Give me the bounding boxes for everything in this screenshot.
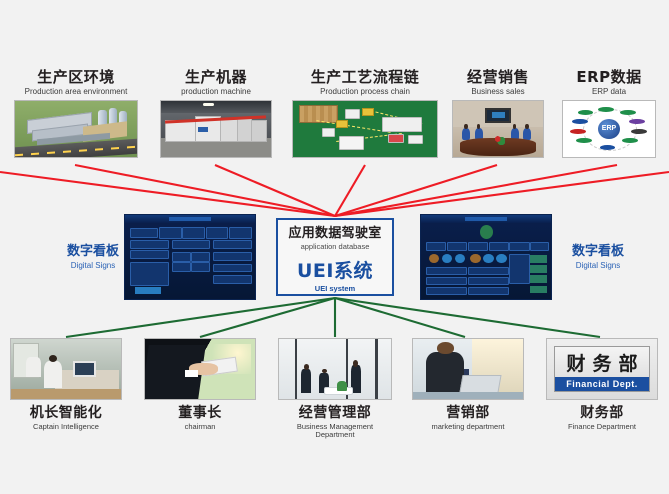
center-system-en: UEI system: [315, 284, 355, 293]
source-node-production-machine[interactable]: 生产机器 production machine: [160, 70, 272, 158]
right-digital-signs-label: 数字看板 Digital Signs: [560, 240, 636, 270]
office-meeting-photo[interactable]: [278, 338, 392, 400]
right-dashboard-thumb[interactable]: [420, 214, 552, 300]
erp-hub-diagram[interactable]: ERP: [562, 100, 656, 158]
uei-system-box[interactable]: 应用数据驾驶室 application database UEI系统 UEI s…: [276, 218, 394, 296]
printing-machine-art: [161, 101, 271, 157]
center-system-zh: UEI系统: [297, 256, 373, 283]
left-dashboard-art: [125, 215, 255, 299]
consumer-caption: 财务部 Finance Department: [546, 406, 658, 431]
printing-machine-photo[interactable]: [160, 100, 272, 158]
left-dashboard-screen[interactable]: [124, 214, 256, 300]
consumer-node-business-management[interactable]: 经营管理部 Business Management Department: [278, 338, 392, 438]
source-node-business-sales[interactable]: 经营销售 Business sales: [452, 70, 544, 158]
marketing-laptop-photo[interactable]: [412, 338, 524, 400]
consumer-caption: 营销部 marketing department: [412, 406, 524, 431]
process-chain-diagram[interactable]: [292, 100, 438, 158]
consumer-caption: 经营管理部 Business Management Department: [278, 406, 392, 438]
chairman-tablet-photo[interactable]: [144, 338, 256, 400]
source-node-erp-data[interactable]: ERP数据 ERP data ERP: [562, 70, 656, 158]
erp-hub-art: ERP: [563, 101, 655, 157]
process-chain-art: [293, 101, 437, 157]
chairman-tablet-art: [145, 339, 255, 399]
factory-aerial-photo[interactable]: [14, 100, 138, 158]
consumer-caption: 机长智能化 Captain Intelligence: [10, 406, 122, 431]
center-title-zh: 应用数据驾驶室: [288, 222, 381, 241]
meeting-room-art: [453, 101, 543, 157]
source-node-process-chain[interactable]: 生产工艺流程链 Production process chain: [292, 70, 438, 158]
control-room-photo[interactable]: [10, 338, 122, 400]
consumer-node-finance[interactable]: 财务部 Financial Dept. 财务部 Finance Departme…: [546, 338, 658, 431]
diagram-canvas: 生产区环境 Production area environment 生产机器 p…: [0, 0, 669, 494]
source-caption: 生产区环境 Production area environment: [14, 70, 138, 96]
right-dashboard-art: [421, 215, 551, 299]
source-node-production-area[interactable]: 生产区环境 Production area environment: [14, 70, 138, 158]
office-meeting-art: [279, 339, 391, 399]
red-source-links: [0, 165, 669, 216]
green-consumer-links: [66, 298, 600, 337]
center-title-en: application database: [301, 242, 370, 251]
consumer-node-captain-intelligence[interactable]: 机长智能化 Captain Intelligence: [10, 338, 122, 431]
finance-door-sign[interactable]: 财务部 Financial Dept.: [546, 338, 658, 400]
source-caption: 生产工艺流程链 Production process chain: [292, 70, 438, 96]
factory-aerial-art: [15, 101, 137, 157]
left-dashboard-thumb[interactable]: [124, 214, 256, 300]
source-caption: 经营销售 Business sales: [452, 70, 544, 96]
consumer-node-marketing[interactable]: 营销部 marketing department: [412, 338, 524, 431]
consumer-caption: 董事长 chairman: [144, 406, 256, 431]
finance-sign-plate: 财务部 Financial Dept.: [554, 346, 651, 391]
source-caption: 生产机器 production machine: [160, 70, 272, 96]
right-dashboard-screen[interactable]: [420, 214, 552, 300]
meeting-room-photo[interactable]: [452, 100, 544, 158]
finance-sign-en: Financial Dept.: [555, 377, 650, 391]
control-room-art: [11, 339, 121, 399]
source-caption: ERP数据 ERP data: [562, 70, 656, 96]
left-digital-signs-label: 数字看板 Digital Signs: [58, 240, 128, 270]
finance-sign-art: 财务部 Financial Dept.: [547, 339, 657, 399]
finance-sign-zh: 财务部: [555, 347, 650, 376]
consumer-node-chairman[interactable]: 董事长 chairman: [144, 338, 256, 431]
marketing-laptop-art: [413, 339, 523, 399]
